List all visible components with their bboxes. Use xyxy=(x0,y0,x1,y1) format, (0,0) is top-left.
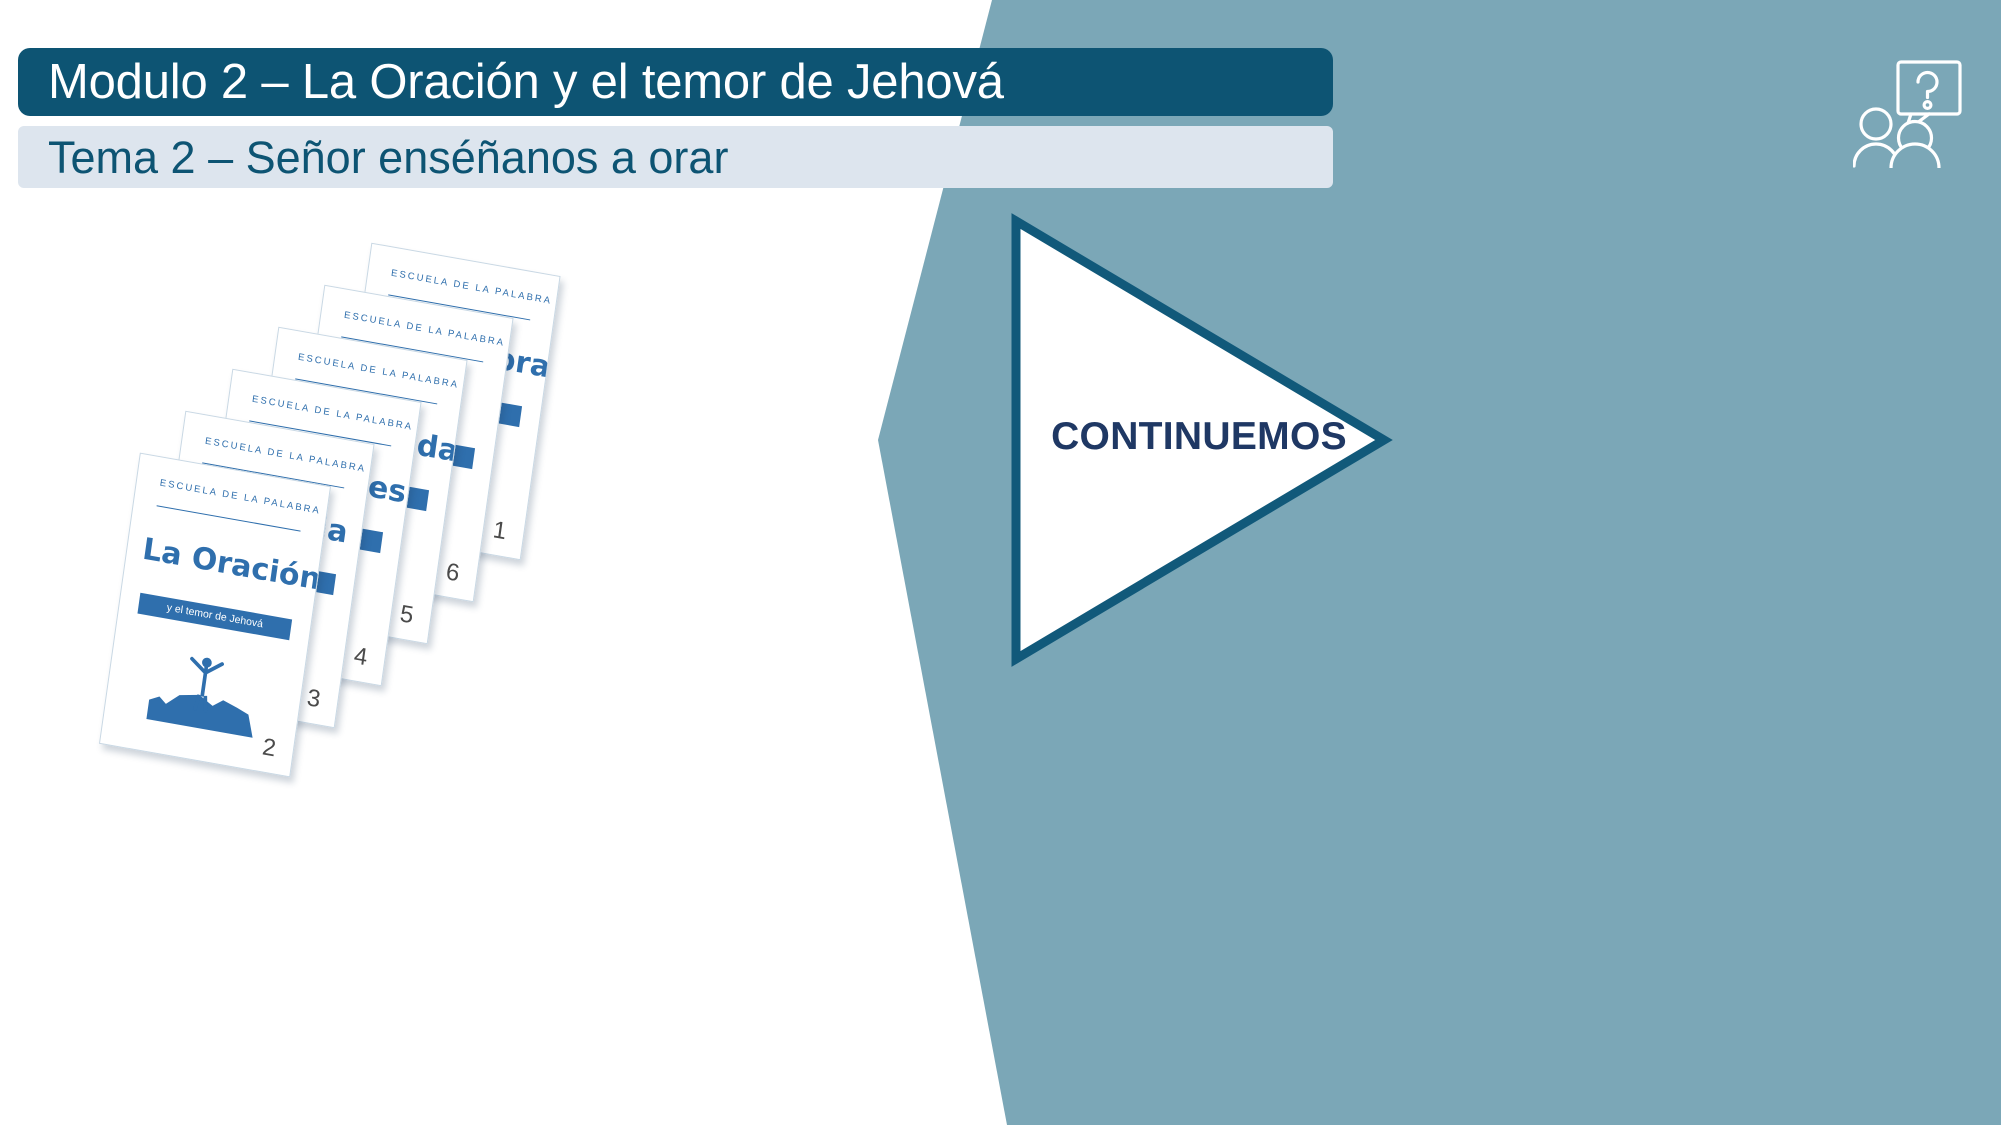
booklet-cover-front[interactable]: ESCUELA DE LA PALABRA La Oración y el te… xyxy=(99,453,331,778)
booklet-subtitle: y el temor de Jehová xyxy=(138,593,292,640)
booklet-number: 3 xyxy=(305,684,322,714)
topic-title-text: Tema 2 – Señor enséñanos a orar xyxy=(18,135,728,180)
slide-canvas: Modulo 2 – La Oración y el temor de Jeho… xyxy=(0,0,2001,1125)
booklet-title: La Oración xyxy=(140,532,304,595)
people-question-icon[interactable] xyxy=(1853,58,1983,168)
module-title-text: Modulo 2 – La Oración y el temor de Jeho… xyxy=(18,58,1004,107)
topic-title-bar: Tema 2 – Señor enséñanos a orar xyxy=(18,126,1333,188)
continue-label[interactable]: CONTINUEMOS xyxy=(1034,415,1364,459)
booklet-number: 1 xyxy=(491,516,508,546)
booklet-number: 4 xyxy=(352,642,369,672)
booklet-illustration-icon xyxy=(138,645,270,742)
module-title-bar: Modulo 2 – La Oración y el temor de Jeho… xyxy=(18,48,1333,116)
booklet-number: 6 xyxy=(444,558,461,588)
booklet-number: 2 xyxy=(261,733,278,763)
booklet-stack: ESCUELA DE LA PALABRA La Palabra y su au… xyxy=(100,250,660,810)
booklet-number: 5 xyxy=(398,600,415,630)
